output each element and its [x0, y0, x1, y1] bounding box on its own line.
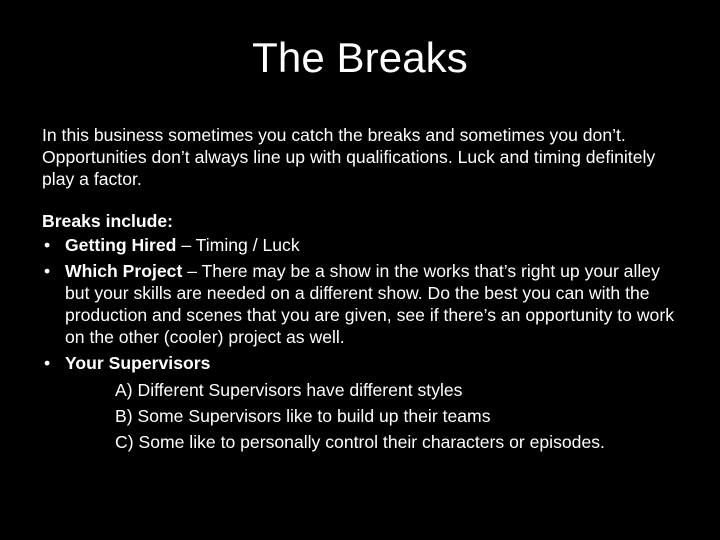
sub-item-a: A) Different Supervisors have different …: [115, 377, 687, 403]
breaks-bullet-list: • Getting Hired – Timing / Luck • Which …: [42, 234, 687, 455]
section-heading: Breaks include:: [42, 210, 687, 232]
sub-item-c: C) Some like to personally control their…: [115, 429, 687, 455]
sub-item-b: B) Some Supervisors like to build up the…: [115, 403, 687, 429]
bullet-lead-in: Your Supervisors: [65, 353, 210, 373]
bullet-point-icon: •: [44, 260, 50, 282]
supervisor-sub-list: A) Different Supervisors have different …: [65, 377, 687, 455]
bullet-text: Your Supervisors: [65, 353, 210, 373]
slide-title: The Breaks: [0, 36, 720, 80]
bullet-point-icon: •: [44, 352, 50, 374]
bullet-item-getting-hired: • Getting Hired – Timing / Luck: [42, 234, 687, 256]
bullet-body: – Timing / Luck: [176, 235, 299, 255]
bullet-text: Which Project – There may be a show in t…: [65, 261, 674, 347]
bullet-item-which-project: • Which Project – There may be a show in…: [42, 260, 687, 348]
slide-body: In this business sometimes you catch the…: [42, 124, 687, 455]
bullet-lead-in: Getting Hired: [65, 235, 176, 255]
bullet-text: Getting Hired – Timing / Luck: [65, 235, 300, 255]
bullet-item-your-supervisors: • Your Supervisors A) Different Supervis…: [42, 352, 687, 455]
bullet-point-icon: •: [44, 234, 50, 256]
presentation-slide: The Breaks In this business sometimes yo…: [0, 0, 720, 540]
bullet-lead-in: Which Project: [65, 261, 182, 281]
intro-paragraph: In this business sometimes you catch the…: [42, 124, 687, 190]
